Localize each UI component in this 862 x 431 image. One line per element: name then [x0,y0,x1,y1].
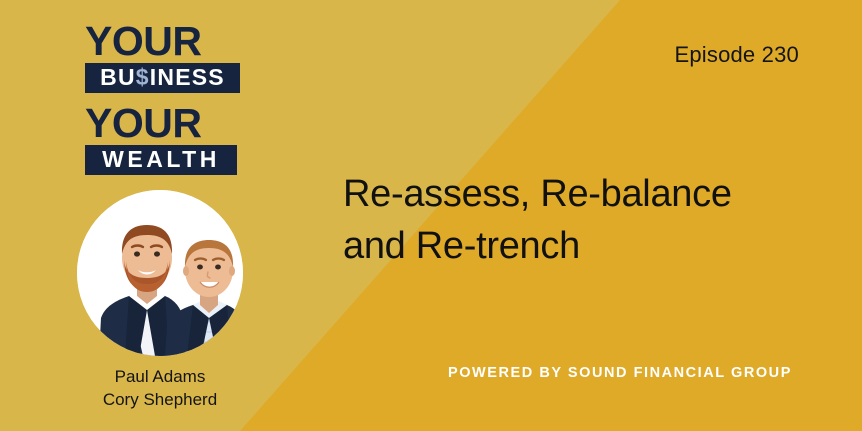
brand-logo: YOUR BU$INESS YOUR WEALTH [85,22,240,175]
episode-title-line-1: Re-assess, Re-balance [343,168,813,220]
episode-title-line-2: and Re-trench [343,220,813,272]
episode-number-label: Episode 230 [674,42,799,68]
host-name-secondary: Cory Shepherd [0,389,320,412]
logo-bar-wealth: WEALTH [85,145,237,175]
logo-business-pre: BU [100,64,136,91]
powered-by-label: POWERED BY SOUND FINANCIAL GROUP [448,365,792,381]
logo-word-your-top: YOUR [85,22,240,61]
logo-wealth-label: WEALTH [102,146,220,173]
episode-title: Re-assess, Re-balance and Re-trench [343,168,813,273]
host-portrait-photo [77,190,243,356]
logo-business-post: INESS [150,64,225,91]
podcast-episode-cover: YOUR BU$INESS YOUR WEALTH [0,0,862,431]
host-name-primary: Paul Adams [0,366,320,389]
host-portrait-illustration [77,190,243,356]
dollar-sign-icon: $ [136,64,150,91]
logo-bar-business: BU$INESS [85,63,240,93]
logo-word-your-bottom: YOUR [85,104,240,143]
host-names: Paul Adams Cory Shepherd [0,366,320,411]
